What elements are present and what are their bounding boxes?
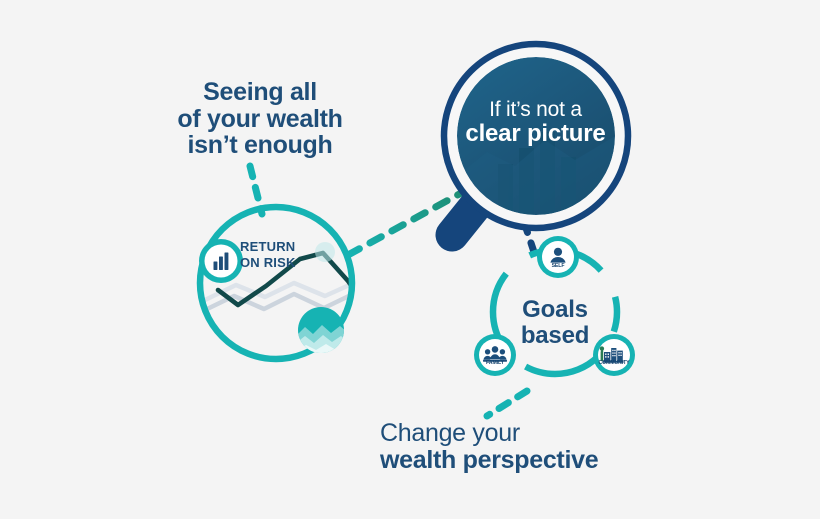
goals-node-community[interactable] xyxy=(593,334,635,376)
callout-seeing-line-3: isn’t enough xyxy=(150,132,370,159)
connector-goals-to-change xyxy=(487,391,527,416)
goals-graphic[interactable] xyxy=(474,236,635,376)
callout-change-your: Change your wealth perspective xyxy=(380,420,670,473)
goals-node-family[interactable] xyxy=(474,334,516,376)
callout-seeing-all: Seeing all of your wealth isn’t enough xyxy=(150,79,370,159)
ror-wave-badge[interactable] xyxy=(296,307,346,356)
goals-node-self[interactable] xyxy=(537,236,579,278)
callout-change-line-2: wealth perspective xyxy=(380,447,670,474)
ror-badge[interactable] xyxy=(199,239,243,283)
callout-change-line-1: Change your xyxy=(380,420,670,447)
callout-seeing-line-1: Seeing all xyxy=(150,79,370,106)
return-on-risk-graphic[interactable] xyxy=(199,207,388,359)
magnifier-graphic[interactable] xyxy=(444,44,628,235)
callout-seeing-line-2: of your wealth xyxy=(150,106,370,133)
infographic-canvas: Seeing all of your wealth isn’t enough I… xyxy=(0,0,820,519)
